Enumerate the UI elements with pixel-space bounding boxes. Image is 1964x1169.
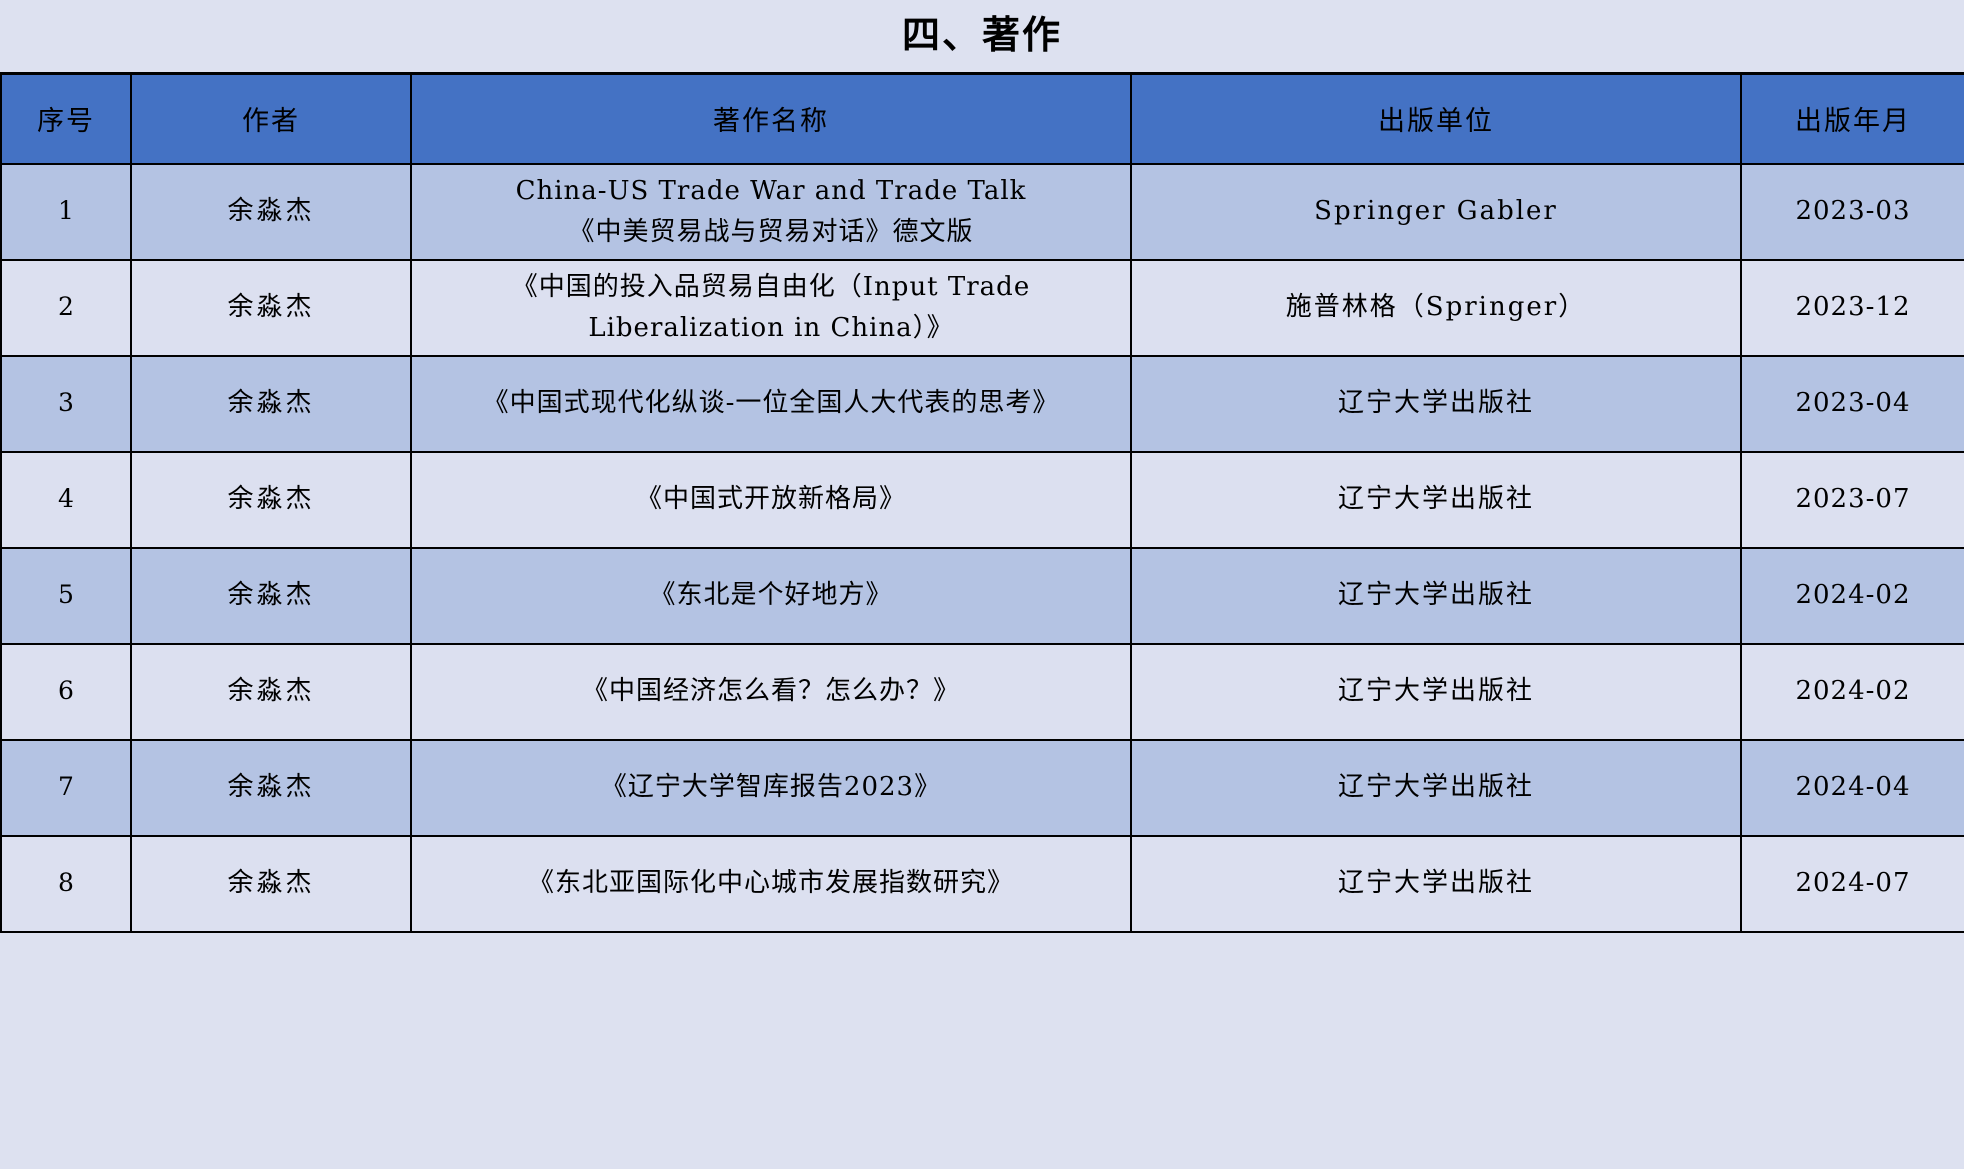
cell-date: 2024-07 (1741, 836, 1964, 932)
table-header: 序号 作者 著作名称 出版单位 出版年月 (1, 74, 1964, 164)
table-body: 1余淼杰China-US Trade War and Trade Talk《中美… (1, 164, 1964, 932)
cell-title: 《中国式开放新格局》 (411, 452, 1131, 548)
cell-publisher: 辽宁大学出版社 (1131, 452, 1741, 548)
cell-publisher: 辽宁大学出版社 (1131, 356, 1741, 452)
column-header-publisher: 出版单位 (1131, 74, 1741, 164)
title-line: 《中国的投入品贸易自由化（Input Trade (420, 267, 1122, 307)
cell-date: 2024-02 (1741, 548, 1964, 644)
cell-seq: 1 (1, 164, 131, 260)
page-title: 四、著作 (0, 0, 1964, 72)
column-header-author: 作者 (131, 74, 411, 164)
title-line: 《中美贸易战与贸易对话》德文版 (420, 212, 1122, 252)
cell-title: 《东北是个好地方》 (411, 548, 1131, 644)
title-line: 《东北亚国际化中心城市发展指数研究》 (420, 863, 1122, 903)
cell-title: 《辽宁大学智库报告2023》 (411, 740, 1131, 836)
cell-title: 《东北亚国际化中心城市发展指数研究》 (411, 836, 1131, 932)
cell-date: 2023-12 (1741, 260, 1964, 356)
table-row: 1余淼杰China-US Trade War and Trade Talk《中美… (1, 164, 1964, 260)
cell-author: 余淼杰 (131, 164, 411, 260)
cell-seq: 2 (1, 260, 131, 356)
cell-author: 余淼杰 (131, 644, 411, 740)
title-line: 《中国式现代化纵谈-一位全国人大代表的思考》 (420, 383, 1122, 423)
works-table: 序号 作者 著作名称 出版单位 出版年月 1余淼杰China-US Trade … (0, 72, 1964, 933)
table-row: 3余淼杰《中国式现代化纵谈-一位全国人大代表的思考》辽宁大学出版社2023-04 (1, 356, 1964, 452)
cell-date: 2023-07 (1741, 452, 1964, 548)
cell-author: 余淼杰 (131, 740, 411, 836)
column-header-date: 出版年月 (1741, 74, 1964, 164)
cell-seq: 3 (1, 356, 131, 452)
cell-publisher: 辽宁大学出版社 (1131, 548, 1741, 644)
cell-publisher: 施普林格（Springer） (1131, 260, 1741, 356)
table-row: 4余淼杰《中国式开放新格局》辽宁大学出版社2023-07 (1, 452, 1964, 548)
cell-author: 余淼杰 (131, 260, 411, 356)
column-header-title: 著作名称 (411, 74, 1131, 164)
table-row: 5余淼杰《东北是个好地方》辽宁大学出版社2024-02 (1, 548, 1964, 644)
cell-author: 余淼杰 (131, 836, 411, 932)
cell-author: 余淼杰 (131, 452, 411, 548)
cell-publisher: Springer Gabler (1131, 164, 1741, 260)
cell-title: China-US Trade War and Trade Talk《中美贸易战与… (411, 164, 1131, 260)
cell-seq: 4 (1, 452, 131, 548)
cell-author: 余淼杰 (131, 548, 411, 644)
table-row: 2余淼杰《中国的投入品贸易自由化（Input TradeLiberalizati… (1, 260, 1964, 356)
cell-title: 《中国的投入品贸易自由化（Input TradeLiberalization i… (411, 260, 1131, 356)
cell-date: 2023-03 (1741, 164, 1964, 260)
cell-publisher: 辽宁大学出版社 (1131, 836, 1741, 932)
cell-title: 《中国式现代化纵谈-一位全国人大代表的思考》 (411, 356, 1131, 452)
table-row: 8余淼杰《东北亚国际化中心城市发展指数研究》辽宁大学出版社2024-07 (1, 836, 1964, 932)
title-line: 《中国式开放新格局》 (420, 479, 1122, 519)
title-line: 《辽宁大学智库报告2023》 (420, 767, 1122, 807)
cell-seq: 6 (1, 644, 131, 740)
cell-title: 《中国经济怎么看？怎么办？》 (411, 644, 1131, 740)
title-line: Liberalization in China）》 (420, 308, 1122, 348)
cell-seq: 5 (1, 548, 131, 644)
cell-date: 2024-04 (1741, 740, 1964, 836)
table-row: 7余淼杰《辽宁大学智库报告2023》辽宁大学出版社2024-04 (1, 740, 1964, 836)
title-line: China-US Trade War and Trade Talk (420, 171, 1122, 211)
column-header-seq: 序号 (1, 74, 131, 164)
title-line: 《中国经济怎么看？怎么办？》 (420, 671, 1122, 711)
page-root: 四、著作 序号 作者 著作名称 出版单位 出版年月 1余淼杰China-US T… (0, 0, 1964, 1169)
cell-publisher: 辽宁大学出版社 (1131, 644, 1741, 740)
cell-date: 2023-04 (1741, 356, 1964, 452)
title-line: 《东北是个好地方》 (420, 575, 1122, 615)
cell-date: 2024-02 (1741, 644, 1964, 740)
cell-seq: 8 (1, 836, 131, 932)
header-row: 序号 作者 著作名称 出版单位 出版年月 (1, 74, 1964, 164)
cell-publisher: 辽宁大学出版社 (1131, 740, 1741, 836)
cell-author: 余淼杰 (131, 356, 411, 452)
table-row: 6余淼杰《中国经济怎么看？怎么办？》辽宁大学出版社2024-02 (1, 644, 1964, 740)
cell-seq: 7 (1, 740, 131, 836)
